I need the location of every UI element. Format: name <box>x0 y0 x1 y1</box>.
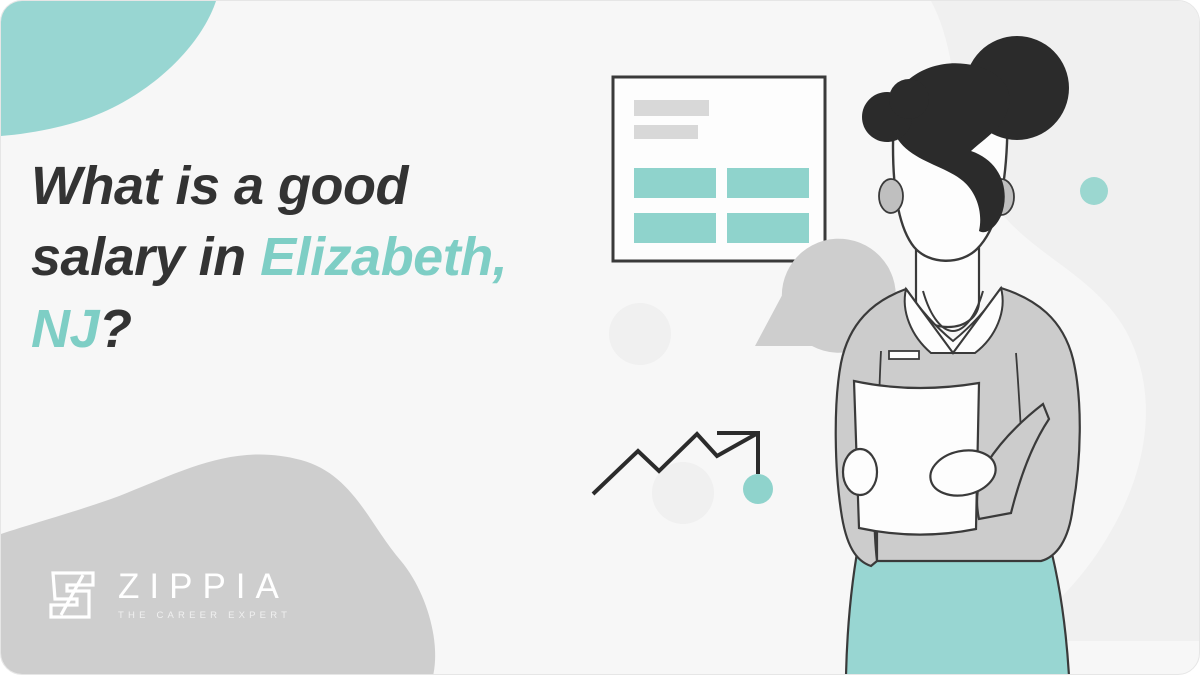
hair-puff-left-2 <box>889 79 929 119</box>
pocket-bar <box>889 351 919 359</box>
zippia-logo[interactable]: ZIPPIA THE CAREER EXPERT <box>49 569 291 621</box>
zippia-logo-text: ZIPPIA THE CAREER EXPERT <box>118 569 291 621</box>
ear-left <box>879 179 903 213</box>
hand-left <box>843 449 877 495</box>
page-title: What is a good salary in Elizabeth, NJ? <box>31 151 551 365</box>
title-question-mark: ? <box>99 299 132 359</box>
zippia-wordmark: ZIPPIA <box>118 569 291 604</box>
banner-card: What is a good salary in Elizabeth, NJ? … <box>0 0 1200 675</box>
zippia-logo-mark-icon <box>49 569 101 621</box>
zippia-tagline: THE CAREER EXPERT <box>118 611 291 621</box>
